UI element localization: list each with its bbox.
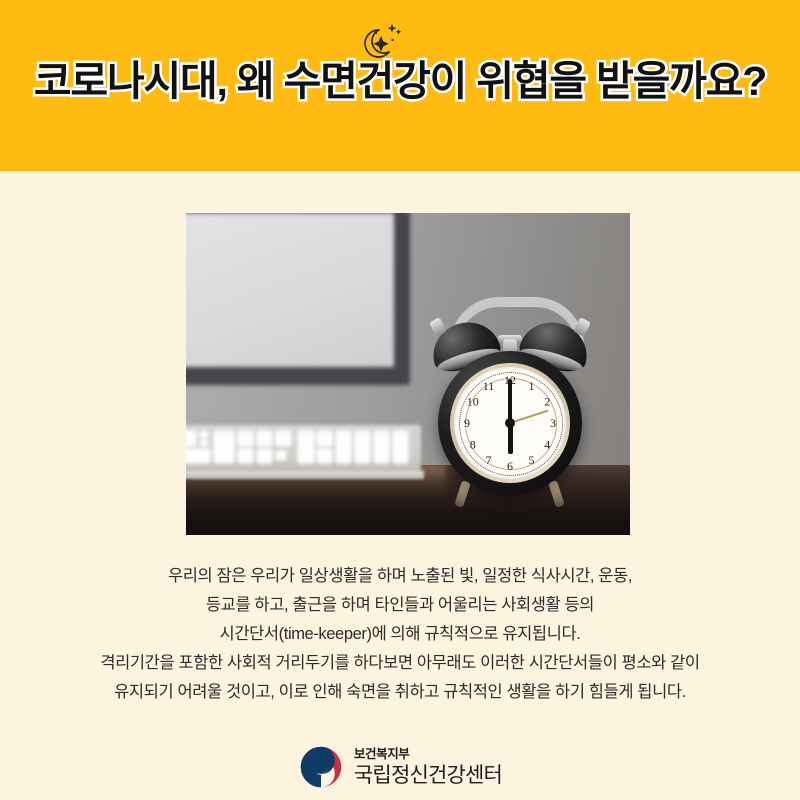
organization-name: 국립정신건강센터 xyxy=(354,765,502,786)
keyboard-object xyxy=(186,425,421,477)
clock-center-cap xyxy=(505,418,515,428)
hero-photo: 12 1 2 3 4 5 6 7 8 9 10 11 xyxy=(186,213,630,535)
header-banner: 코로나시대, 왜 수면건강이 위협을 받을까요? xyxy=(0,0,800,171)
clock-numeral: 2 xyxy=(538,395,556,409)
clock-bezel: 12 1 2 3 4 5 6 7 8 9 10 11 xyxy=(450,363,570,483)
body-line: 격리기간을 포함한 사회적 거리두기를 하다보면 아무래도 이러한 시간단서들이… xyxy=(0,649,800,678)
clock-numeral: 10 xyxy=(464,395,482,409)
clock-numeral: 8 xyxy=(464,438,482,452)
body-text-block: 우리의 잠은 우리가 일상생활을 하며 노출된 빛, 일정한 식사시간, 운동,… xyxy=(0,562,800,707)
monitor-object xyxy=(186,213,410,385)
clock-numeral: 9 xyxy=(458,416,476,430)
clock-numeral: 1 xyxy=(523,379,541,393)
clock-foot-right xyxy=(548,480,565,508)
ministry-name: 보건복지부 xyxy=(354,748,502,761)
clock-numeral: 4 xyxy=(538,438,556,452)
monitor-screen xyxy=(186,213,394,367)
clock-numeral: 11 xyxy=(480,379,498,393)
body-line: 우리의 잠은 우리가 일상생활을 하며 노출된 빛, 일정한 식사시간, 운동, xyxy=(0,562,800,591)
taegeuk-government-logo-icon xyxy=(298,744,344,790)
body-line: 등교를 하고, 출근을 하며 타인들과 어울리는 사회생활 등의 xyxy=(0,591,800,620)
clock-dial: 12 1 2 3 4 5 6 7 8 9 10 11 xyxy=(454,367,566,479)
clock-numeral: 7 xyxy=(480,453,498,467)
clock-numeral: 6 xyxy=(501,459,519,473)
clock-numeral: 5 xyxy=(523,453,541,467)
footer-logo-text: 보건복지부 국립정신건강센터 xyxy=(354,748,502,786)
clock-foot-left xyxy=(454,480,471,508)
footer-logo: 보건복지부 국립정신건강센터 xyxy=(0,744,800,790)
clock-minute-hand xyxy=(508,379,512,423)
body-line: 유지되기 어려울 것이고, 이로 인해 숙면을 취하고 규칙적인 생활을 하기 … xyxy=(0,678,800,707)
keyboard-base-edge xyxy=(186,471,424,479)
page-title: 코로나시대, 왜 수면건강이 위협을 받을까요? xyxy=(0,54,800,108)
alarm-clock-object: 12 1 2 3 4 5 6 7 8 9 10 11 xyxy=(430,295,590,517)
clock-case: 12 1 2 3 4 5 6 7 8 9 10 11 xyxy=(438,351,582,495)
body-line: 시간단서(time-keeper)에 의해 규칙적으로 유지됩니다. xyxy=(0,620,800,649)
clock-numeral: 3 xyxy=(544,416,562,430)
